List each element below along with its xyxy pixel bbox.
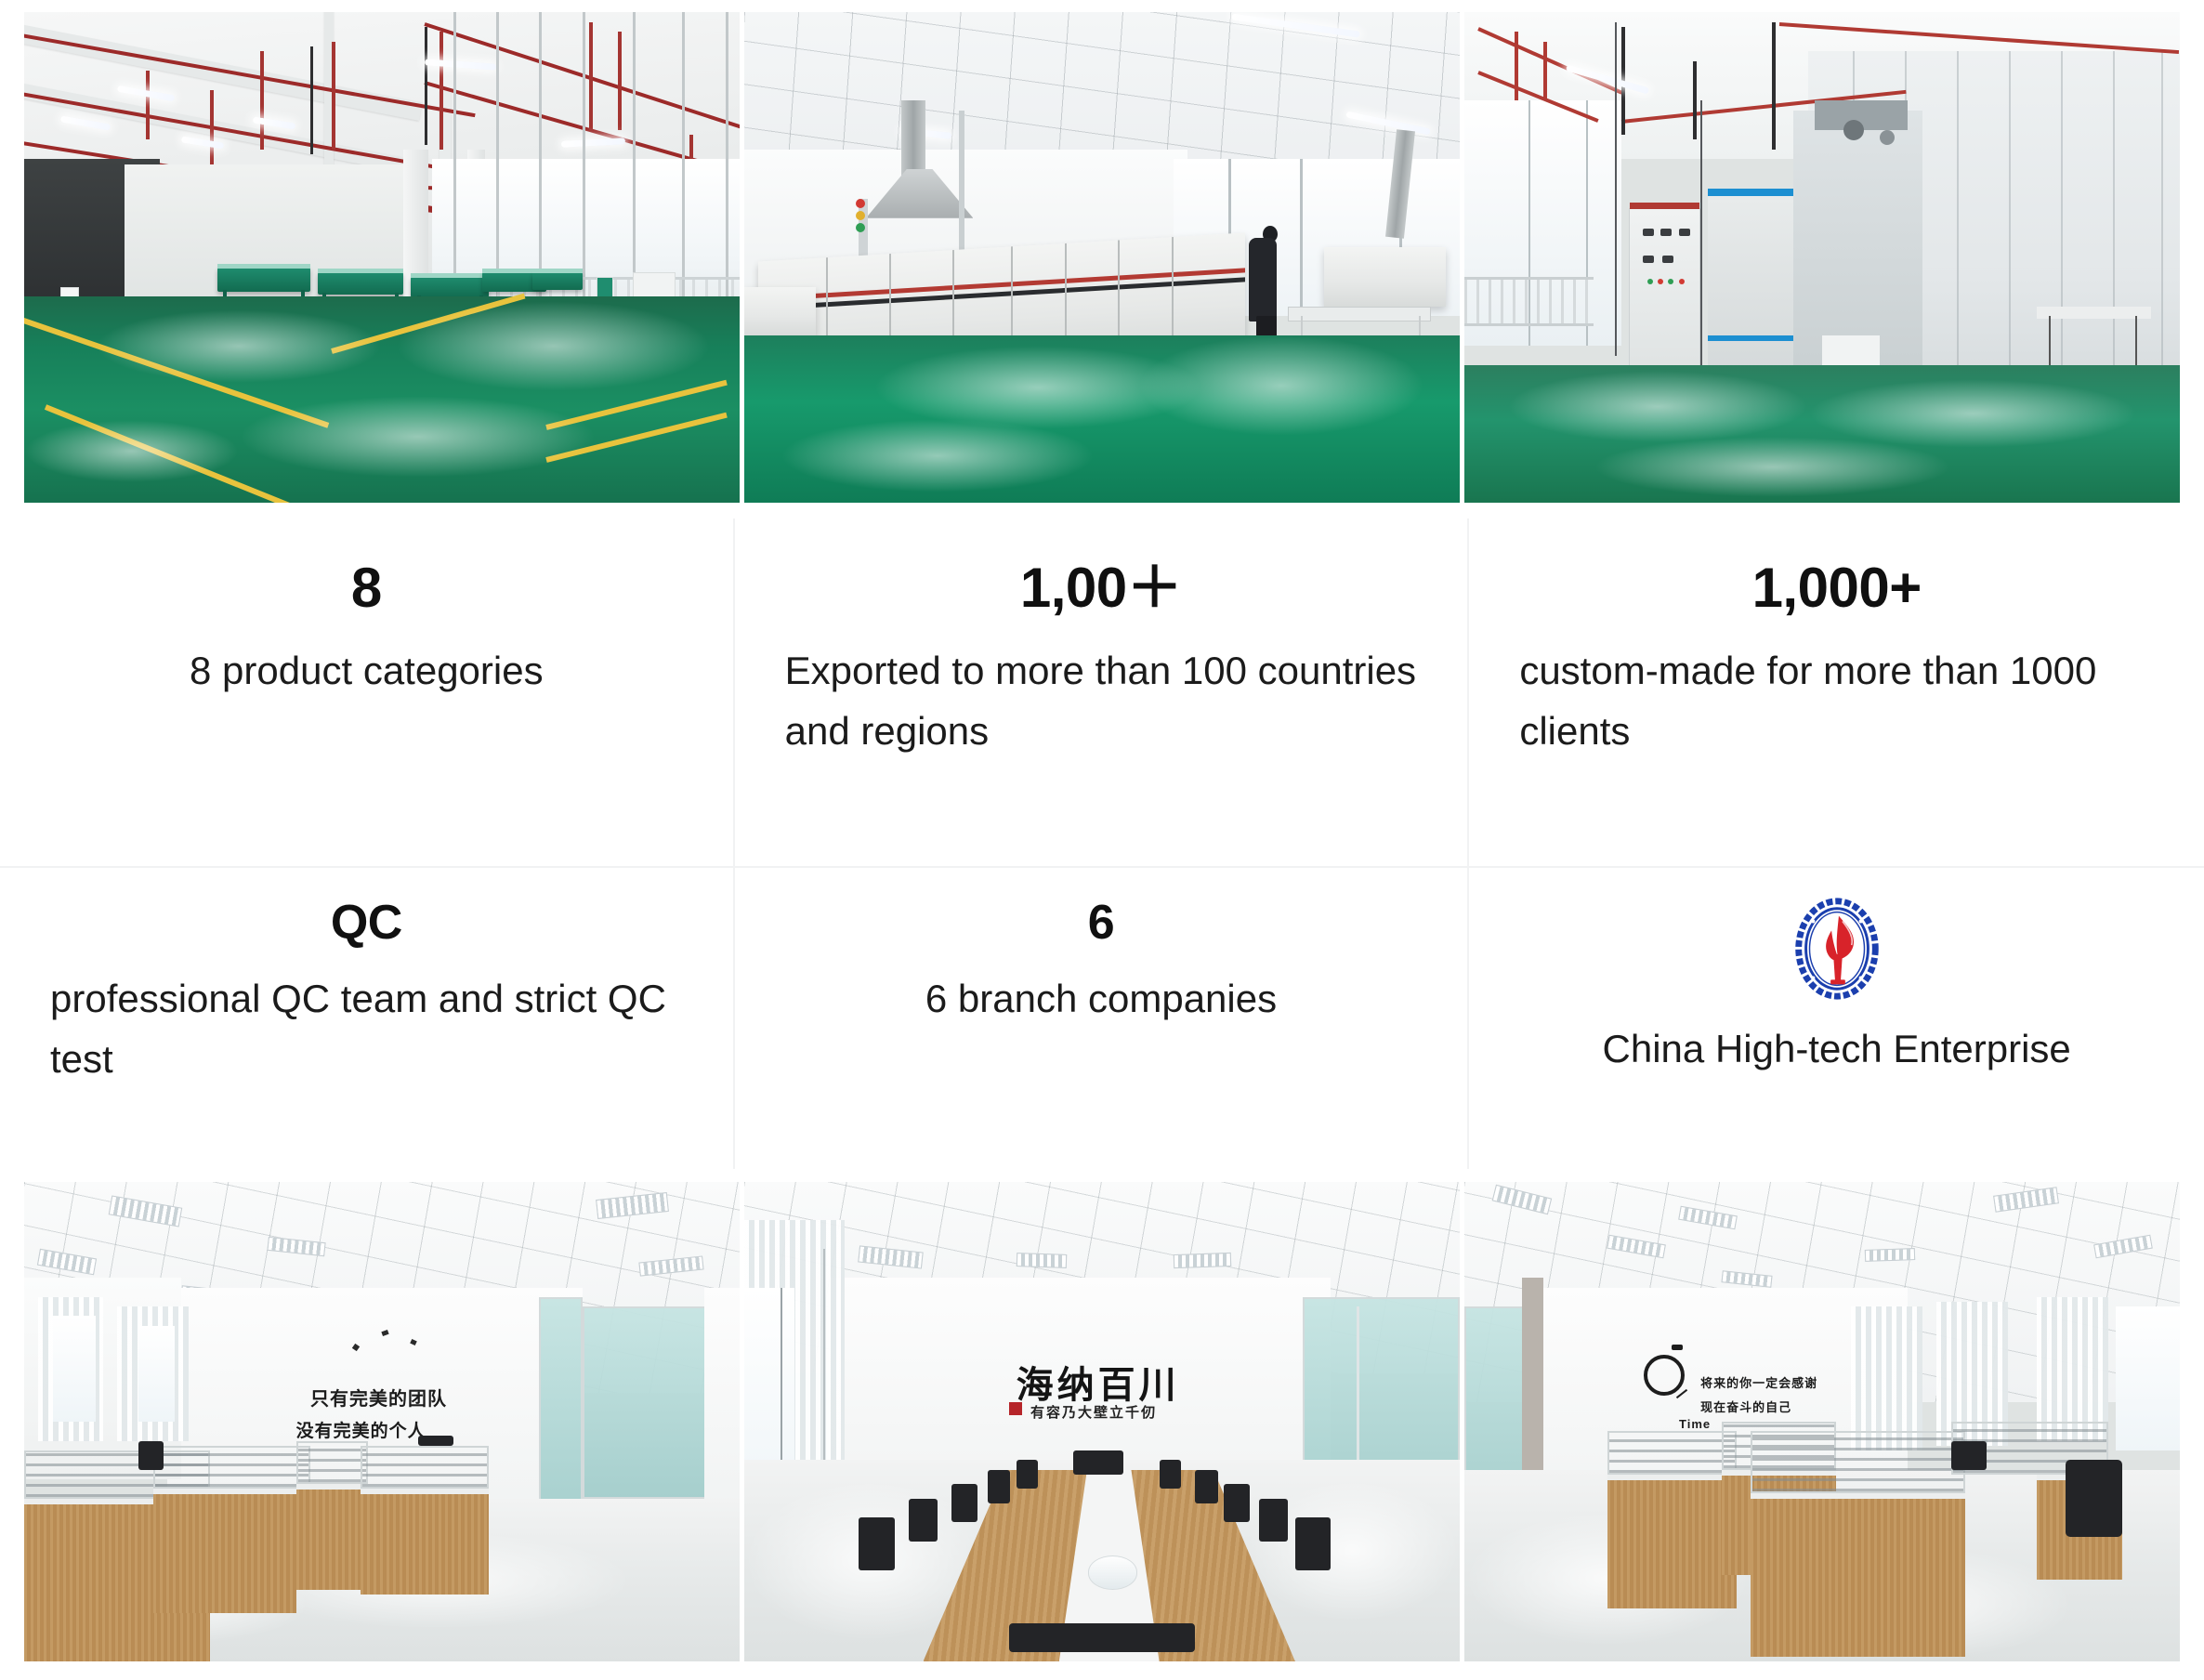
photo-factory-workshop[interactable] — [24, 12, 740, 503]
wall-slogan-line1: 只有完美的团队 — [310, 1384, 447, 1411]
stat-number: 6 — [1088, 896, 1114, 952]
stat-cell-high-tech-enterprise: China High-tech Enterprise — [1469, 868, 2204, 1169]
stat-cell-custom-clients: 1,000+ custom-made for more than 1000 cl… — [1469, 518, 2204, 868]
photo-office-workstations[interactable]: 将来的你一定会感谢 现在奋斗的自己 Time — [1464, 1182, 2180, 1661]
photo-conference-room[interactable]: 海纳百川 有容乃大壁立千仞 — [744, 1182, 1460, 1661]
stat-description: 6 branch companies — [925, 968, 1277, 1029]
wall-slogan-line2: 现在奋斗的自己 — [1700, 1398, 1791, 1415]
photo-open-plan-office[interactable]: 只有完美的团队 没有完美的个人 — [24, 1182, 740, 1661]
clock-decal-icon — [1644, 1355, 1685, 1396]
stat-number: 1,000+ — [1752, 556, 1922, 620]
stat-description: 8 product categories — [190, 640, 544, 701]
wall-calligraphy: 海纳百川 — [1017, 1355, 1180, 1409]
wall-slogan-line1: 将来的你一定会感谢 — [1700, 1373, 1817, 1391]
wall-slogan-time-label: Time — [1679, 1417, 1711, 1431]
photo-coating-machine[interactable] — [1464, 12, 2180, 503]
stat-description: professional QC team and strict QC test — [50, 968, 683, 1089]
wall-slogan-line2: 没有完美的个人 — [296, 1417, 426, 1442]
top-photo-row — [24, 12, 2180, 503]
stat-description: Exported to more than 100 countries and … — [785, 640, 1418, 761]
bottom-photo-row: 只有完美的团队 没有完美的个人 — [24, 1182, 2180, 1661]
company-profile-page: 8 8 product categories 1,00＋ Exported to… — [0, 0, 2204, 1680]
stat-cell-branch-companies: 6 6 branch companies — [735, 868, 1470, 1169]
photo-curing-oven-line[interactable] — [744, 12, 1460, 503]
stat-cell-product-categories: 8 8 product categories — [0, 518, 735, 868]
stat-cell-export-countries: 1,00＋ Exported to more than 100 countrie… — [735, 518, 1470, 868]
wall-calligraphy-subtext: 有容乃大壁立千仞 — [1030, 1402, 1157, 1422]
stat-number: QC — [331, 896, 402, 952]
stat-cell-qc-team: QC professional QC team and strict QC te… — [0, 868, 735, 1169]
stat-number: 1,00＋ — [1020, 556, 1182, 620]
stat-number: 8 — [351, 556, 382, 620]
china-high-tech-enterprise-logo-icon — [1782, 894, 1892, 1004]
company-stats-grid: 8 8 product categories 1,00＋ Exported to… — [0, 518, 2204, 1169]
stat-description: custom-made for more than 1000 clients — [1519, 640, 2154, 761]
stat-description: China High-tech Enterprise — [1603, 1018, 2071, 1079]
